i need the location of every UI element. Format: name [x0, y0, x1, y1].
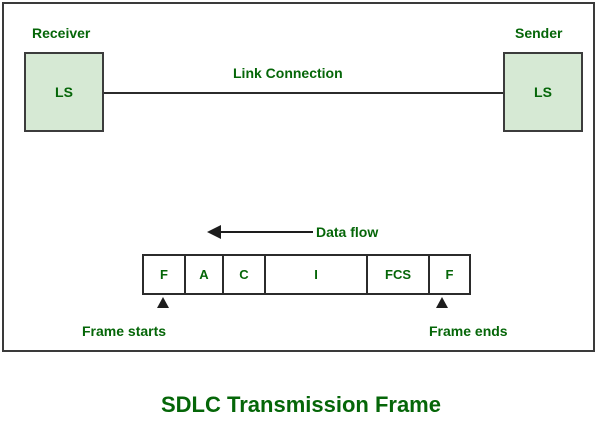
- sender-node-box: LS: [503, 52, 583, 132]
- frame-end-marker-icon: [436, 297, 448, 308]
- sender-title: Sender: [515, 25, 562, 41]
- receiver-node-label: LS: [26, 84, 102, 100]
- transmission-frame-strip: FACIFCSF: [142, 254, 471, 295]
- frame-field-a-1: A: [186, 256, 224, 293]
- receiver-node-box: LS: [24, 52, 104, 132]
- diagram-panel: Receiver LS Link Connection Sender LS Da…: [2, 2, 595, 352]
- frame-field-f-0: F: [144, 256, 186, 293]
- arrow-shaft: [219, 231, 313, 233]
- frame-ends-label: Frame ends: [429, 323, 508, 339]
- diagram-caption: SDLC Transmission Frame: [0, 392, 602, 418]
- frame-field-fcs-4: FCS: [368, 256, 430, 293]
- frame-start-marker-icon: [157, 297, 169, 308]
- frame-field-f-5: F: [430, 256, 469, 293]
- sender-node-label: LS: [505, 84, 581, 100]
- link-connection-label: Link Connection: [233, 65, 343, 81]
- frame-field-c-2: C: [224, 256, 266, 293]
- data-flow-label: Data flow: [316, 224, 378, 240]
- link-connection-line: [104, 92, 505, 94]
- receiver-title: Receiver: [32, 25, 90, 41]
- frame-field-i-3: I: [266, 256, 368, 293]
- frame-starts-label: Frame starts: [82, 323, 166, 339]
